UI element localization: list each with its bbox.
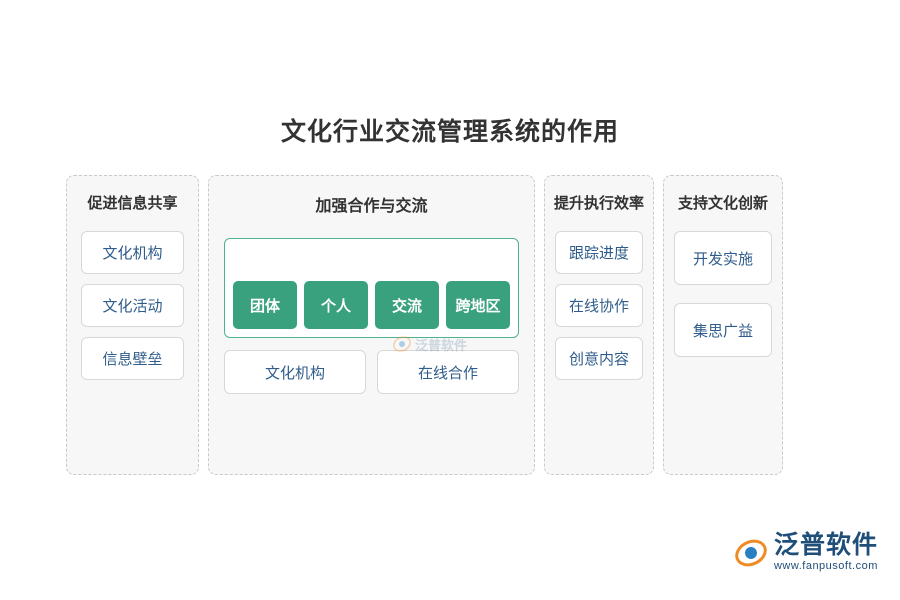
item-box[interactable]: 集思广益 — [674, 303, 772, 357]
bottom-item-row: 文化机构 在线合作 — [224, 350, 519, 394]
item-box[interactable]: 信息壁垒 — [81, 337, 184, 380]
green-item-box[interactable]: 个人 — [304, 281, 368, 329]
logo-url: www.fanpusoft.com — [774, 561, 878, 572]
columns-container: 促进信息共享 文化机构 文化活动 信息壁垒 加强合作与交流 团体 个人 交流 跨… — [66, 175, 856, 475]
column-heading: 加强合作与交流 — [315, 192, 427, 216]
green-item-box[interactable]: 交流 — [375, 281, 439, 329]
item-box[interactable]: 在线协作 — [555, 284, 643, 327]
column-strengthen-cooperation: 加强合作与交流 团体 个人 交流 跨地区 文化机构 在线合作 — [208, 175, 535, 475]
item-box[interactable]: 文化活动 — [81, 284, 184, 327]
item-box[interactable]: 文化机构 — [224, 350, 366, 394]
green-group-panel: 团体 个人 交流 跨地区 — [224, 238, 519, 338]
page-title: 文化行业交流管理系统的作用 — [0, 112, 900, 148]
column-heading: 支持文化创新 — [678, 192, 768, 213]
column-heading: 提升执行效率 — [554, 192, 644, 213]
brand-logo: 泛普软件 www.fanpusoft.com — [734, 533, 878, 572]
green-item-box[interactable]: 跨地区 — [446, 281, 510, 329]
column-support-innovation: 支持文化创新 开发实施 集思广益 — [663, 175, 783, 475]
column-promote-info-sharing: 促进信息共享 文化机构 文化活动 信息壁垒 — [66, 175, 199, 475]
item-box[interactable]: 创意内容 — [555, 337, 643, 380]
diagram-page: 文化行业交流管理系统的作用 促进信息共享 文化机构 文化活动 信息壁垒 加强合作… — [0, 0, 900, 600]
column-heading: 促进信息共享 — [87, 192, 177, 213]
item-box[interactable]: 跟踪进度 — [555, 231, 643, 274]
item-box[interactable]: 开发实施 — [674, 231, 772, 285]
logo-text: 泛普软件 www.fanpusoft.com — [774, 533, 878, 572]
logo-name: 泛普软件 — [774, 533, 878, 558]
item-box[interactable]: 文化机构 — [81, 231, 184, 274]
column-improve-efficiency: 提升执行效率 跟踪进度 在线协作 创意内容 — [544, 175, 654, 475]
item-box[interactable]: 在线合作 — [377, 350, 519, 394]
green-item-box[interactable]: 团体 — [233, 281, 297, 329]
logo-mark-icon — [734, 536, 768, 570]
